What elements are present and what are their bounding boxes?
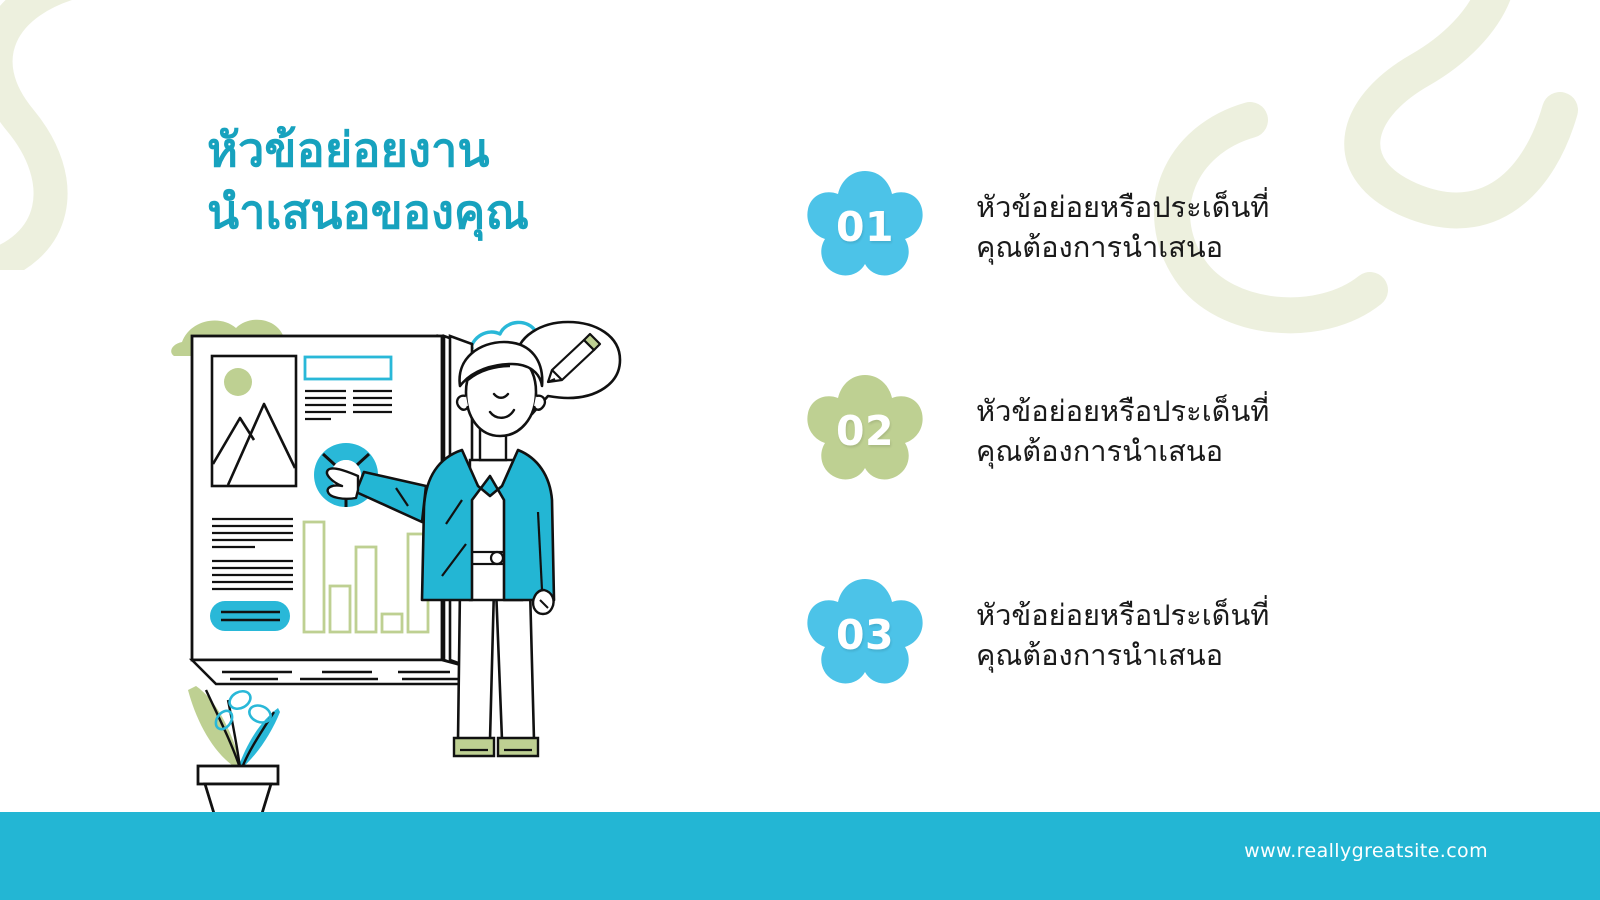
poster-cta-pill [210,601,290,631]
potted-plant-illustration [188,686,280,820]
presenter-illustration [150,300,710,820]
list-item-text: หัวข้อย่อยหรือประเด็นที่ คุณต้องการนำเสน… [976,595,1269,675]
list-item-text-line-1: หัวข้อย่อยหรือประเด็นที่ [976,391,1269,431]
page-title-line-2: นำเสนอของคุณ [207,182,727,244]
page-title-line-1: หัวข้อย่อยงาน [207,120,727,182]
poster-headline-box [305,357,391,379]
list-item-text: หัวข้อย่อยหรือประเด็นที่ คุณต้องการนำเสน… [976,391,1269,471]
badge-number: 03 [806,576,924,694]
footer-bar: www.reallygreatsite.com [0,812,1600,900]
slide-canvas: หัวข้อย่อยงาน นำเสนอของคุณ [0,0,1600,900]
badge-number: 01 [806,168,924,286]
numbered-items-list: 01 หัวข้อย่อยหรือประเด็นที่ คุณต้องการนำ… [806,168,1426,694]
list-item-text-line-2: คุณต้องการนำเสนอ [976,227,1269,267]
list-item[interactable]: 02 หัวข้อย่อยหรือประเด็นที่ คุณต้องการนำ… [806,372,1426,490]
list-item-text-line-2: คุณต้องการนำเสนอ [976,635,1269,675]
badge-number: 02 [806,372,924,490]
footer-website-url[interactable]: www.reallygreatsite.com [1244,840,1488,862]
list-item[interactable]: 03 หัวข้อย่อยหรือประเด็นที่ คุณต้องการนำ… [806,576,1426,694]
page-title: หัวข้อย่อยงาน นำเสนอของคุณ [207,120,727,244]
list-item-text-line-1: หัวข้อย่อยหรือประเด็นที่ [976,595,1269,635]
list-item[interactable]: 01 หัวข้อย่อยหรือประเด็นที่ คุณต้องการนำ… [806,168,1426,286]
person-shoes [454,738,538,756]
person-trousers [458,588,534,740]
list-item-text-line-1: หัวข้อย่อยหรือประเด็นที่ [976,187,1269,227]
poster-photo-frame [212,356,296,486]
plant-pot-rim [198,766,278,784]
list-item-text-line-2: คุณต้องการนำเสนอ [976,431,1269,471]
poster-sun-shape [224,368,252,396]
list-item-text: หัวข้อย่อยหรือประเด็นที่ คุณต้องการนำเสน… [976,187,1269,267]
badge-01[interactable]: 01 [806,168,924,286]
badge-03[interactable]: 03 [806,576,924,694]
badge-02[interactable]: 02 [806,372,924,490]
